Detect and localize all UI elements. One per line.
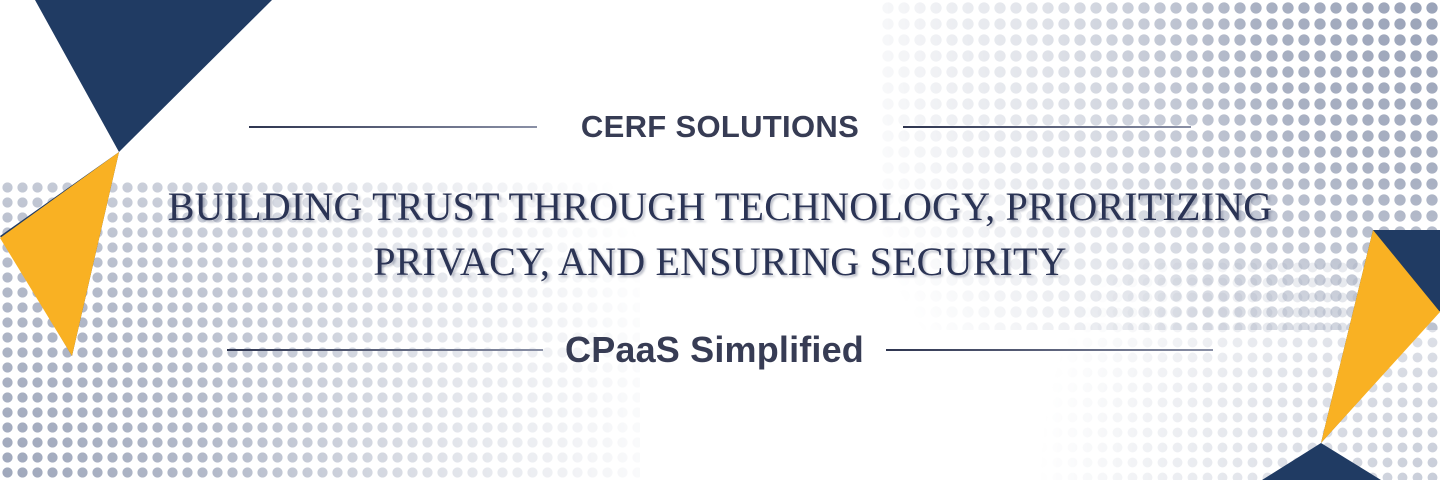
tagline-row: CPaaS Simplified (190, 329, 1250, 371)
promo-banner: CERF SOLUTIONS BUILDING TRUST THROUGH TE… (0, 0, 1440, 480)
divider-left-top (249, 126, 537, 128)
divider-right-top (903, 126, 1191, 128)
headline: BUILDING TRUST THROUGH TECHNOLOGY, PRIOR… (168, 179, 1273, 289)
eyebrow-row: CERF SOLUTIONS (190, 109, 1250, 145)
brand-eyebrow: CERF SOLUTIONS (537, 109, 903, 145)
divider-right-bottom (886, 349, 1213, 351)
tagline: CPaaS Simplified (543, 329, 886, 371)
divider-left-bottom (227, 349, 543, 351)
banner-content: CERF SOLUTIONS BUILDING TRUST THROUGH TE… (0, 0, 1440, 480)
